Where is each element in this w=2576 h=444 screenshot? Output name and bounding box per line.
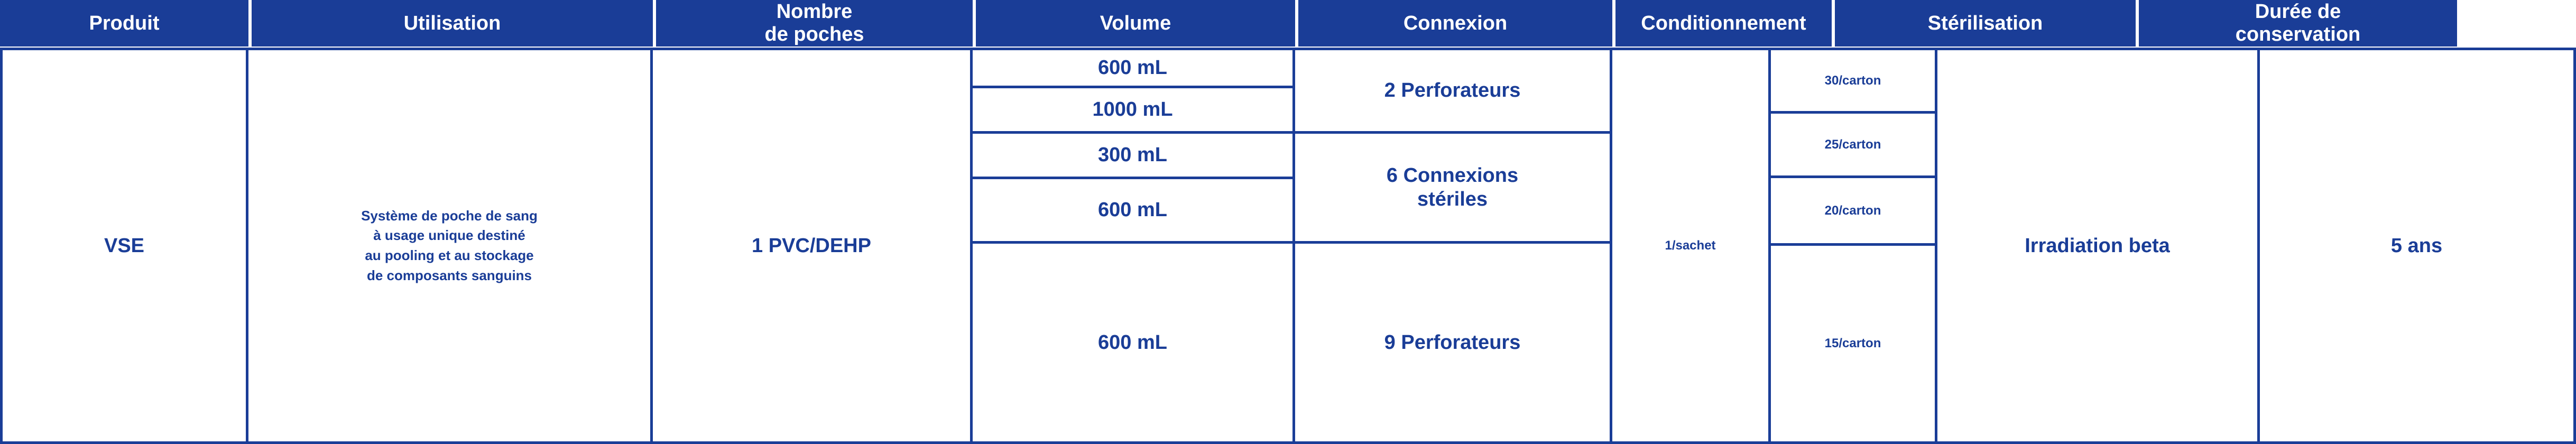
product-specification-table: Produit Utilisation Nombre de poches Vol… <box>0 0 2576 444</box>
column-header-sterilisation: Stérilisation <box>1835 0 2136 47</box>
cell-volume-5: 600 mL <box>973 241 1295 444</box>
cell-conditionnement-carton-2: 25/carton <box>1768 111 1937 175</box>
column-header-connexion: Connexion <box>1298 0 1612 47</box>
column-header-nombre-de-poches: Nombre de poches <box>656 0 973 47</box>
cell-conditionnement-carton-1: 30/carton <box>1768 48 1937 111</box>
cell-volume-2: 1000 mL <box>973 86 1295 131</box>
column-header-volume: Volume <box>976 0 1295 47</box>
cell-volume-3: 300 mL <box>973 131 1295 177</box>
table-header-row: Produit Utilisation Nombre de poches Vol… <box>0 0 2576 47</box>
cell-nombre-de-poches: 1 PVC/DEHP <box>653 48 973 444</box>
cell-volume-1: 600 mL <box>973 48 1295 86</box>
cell-produit: VSE <box>0 48 248 444</box>
column-header-utilisation: Utilisation <box>252 0 653 47</box>
column-header-duree-de-conservation: Durée de conservation <box>2139 0 2457 47</box>
cell-conditionnement-carton-4: 15/carton <box>1768 243 1937 444</box>
cell-utilisation: Système de poche de sang à usage unique … <box>248 48 653 444</box>
cell-connexion-2: 6 Connexions stériles <box>1295 131 1612 241</box>
cell-conditionnement-sachet: 1/sachet <box>1612 48 1768 444</box>
cell-duree-de-conservation: 5 ans <box>2260 48 2576 444</box>
cell-connexion-1: 2 Perforateurs <box>1295 48 1612 131</box>
table-body: VSE Système de poche de sang à usage uni… <box>0 48 2576 444</box>
cell-conditionnement-carton-3: 20/carton <box>1768 175 1937 243</box>
column-header-conditionnement: Conditionnement <box>1615 0 1832 47</box>
column-header-produit: Produit <box>0 0 248 47</box>
cell-volume-4: 600 mL <box>973 177 1295 241</box>
cell-sterilisation: Irradiation beta <box>1937 48 2260 444</box>
cell-connexion-3: 9 Perforateurs <box>1295 241 1612 444</box>
